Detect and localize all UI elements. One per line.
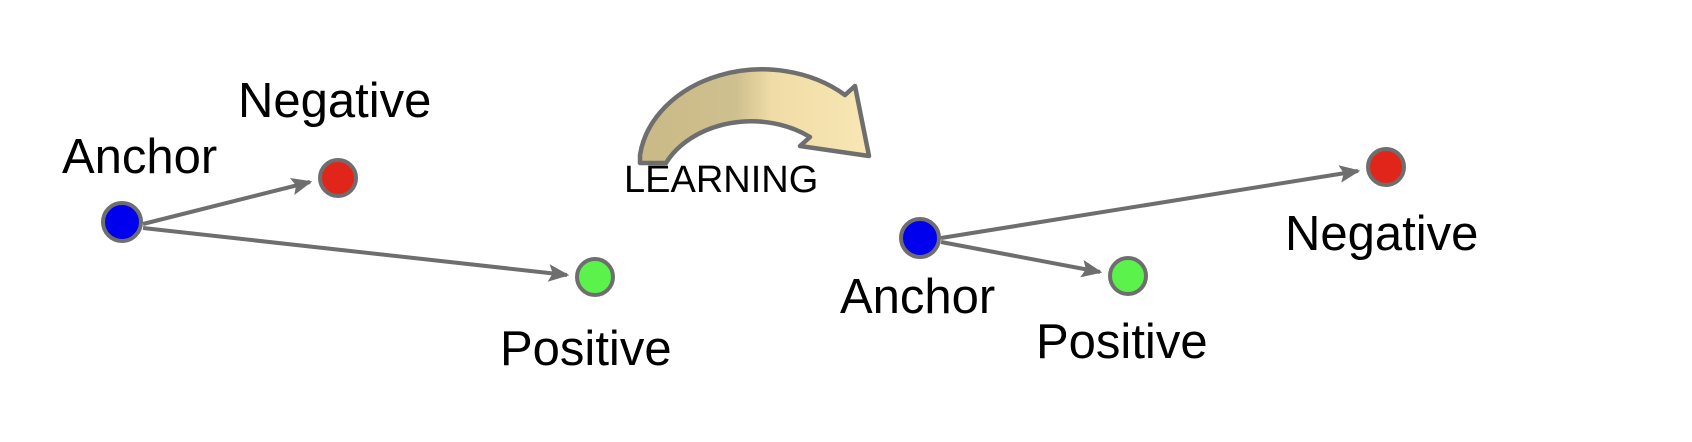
node-negative-after [1368, 149, 1404, 185]
label-negative-before: Negative [238, 77, 431, 126]
label-anchor-before: Anchor [62, 133, 217, 182]
label-positive-before: Positive [500, 325, 672, 374]
before-learning-edges [143, 182, 567, 275]
edge-anchor-negative-before [143, 182, 310, 224]
label-learning: LEARNING [624, 161, 818, 199]
node-anchor-after [901, 219, 939, 257]
edge-anchor-positive-after [941, 242, 1100, 272]
node-anchor-before [103, 203, 141, 241]
edge-anchor-positive-before [143, 228, 567, 275]
learning-curved-arrow [640, 69, 869, 163]
node-positive-after [1110, 258, 1146, 294]
node-negative-before [320, 160, 356, 196]
label-positive-after: Positive [1036, 318, 1208, 367]
node-positive-before [577, 259, 613, 295]
label-anchor-after: Anchor [840, 273, 995, 322]
figure-canvas: Anchor Negative Positive LEARNING Anchor… [0, 0, 1692, 442]
label-negative-after: Negative [1285, 210, 1478, 259]
